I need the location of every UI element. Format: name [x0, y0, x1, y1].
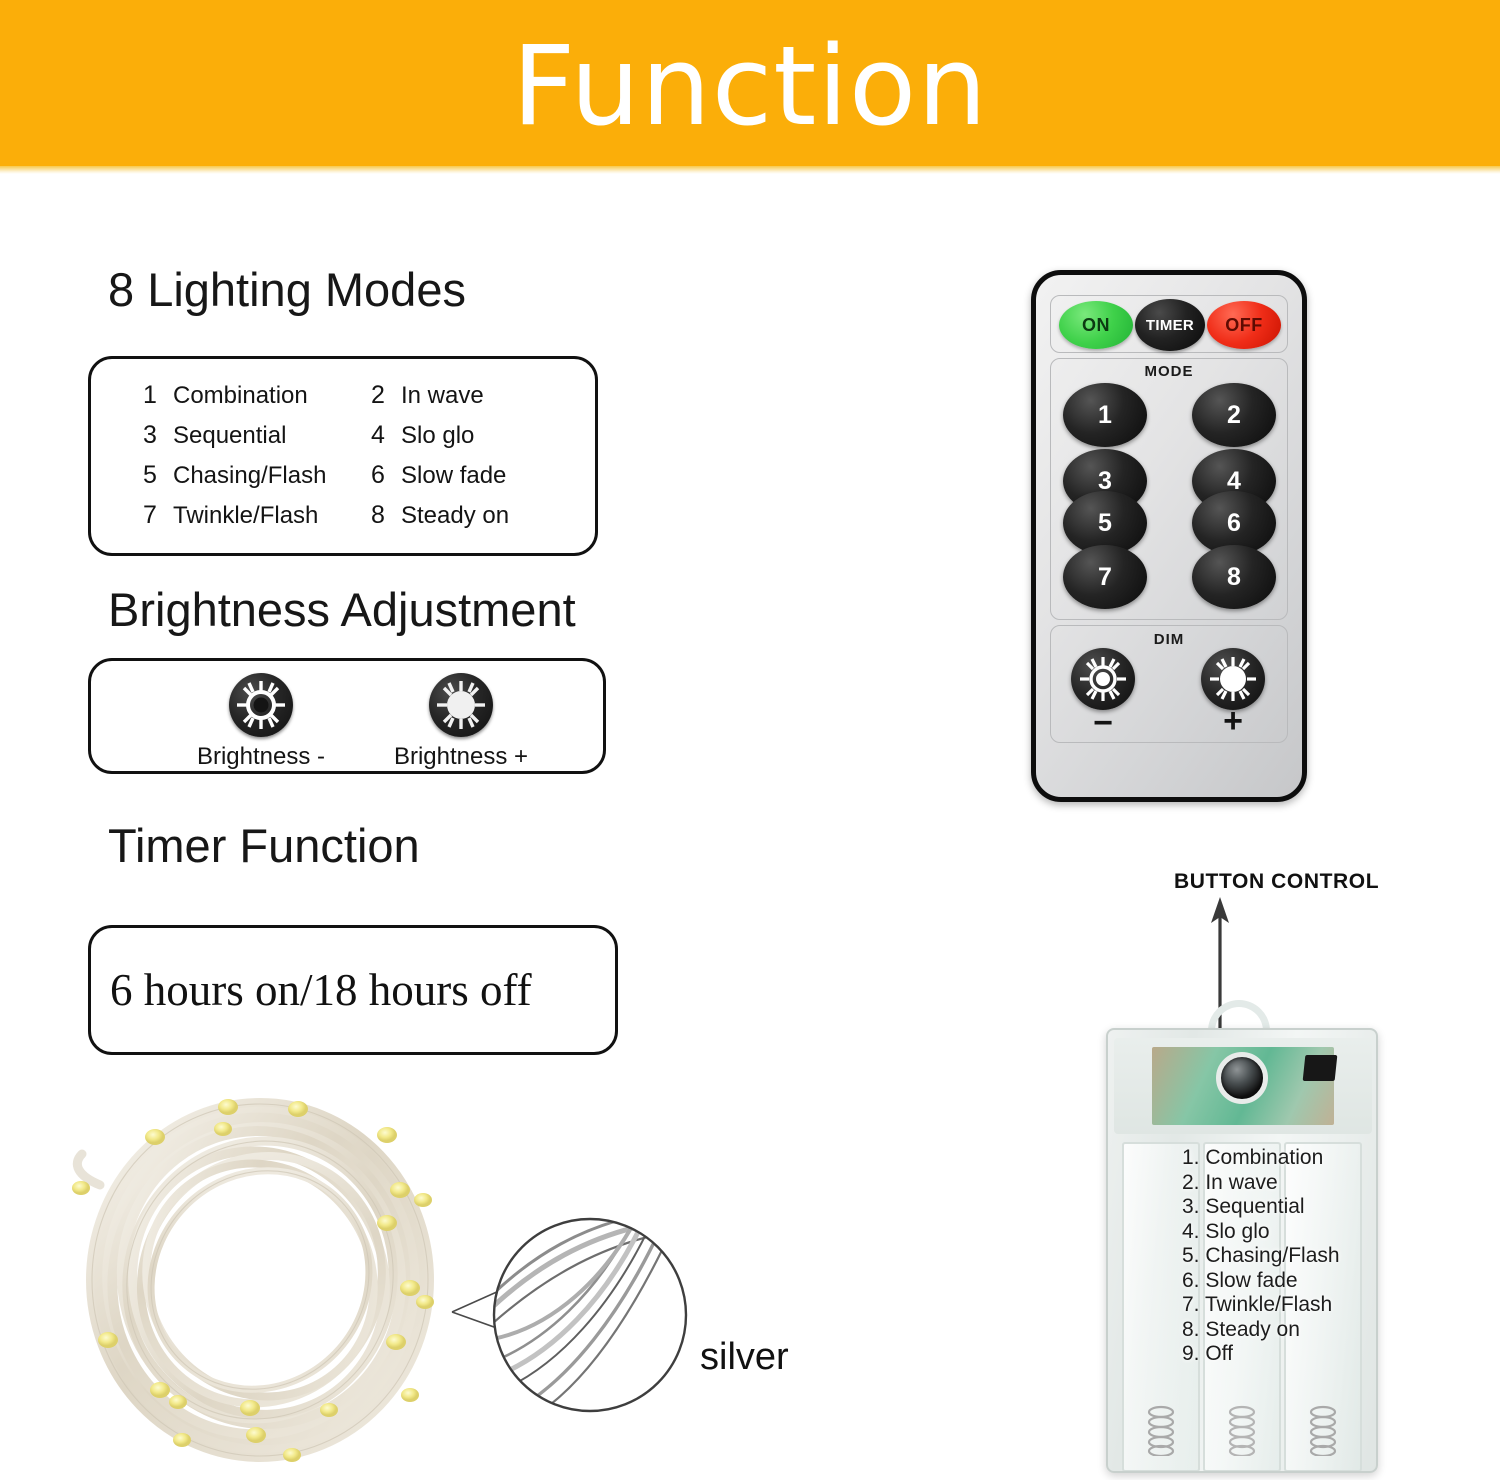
spring-icon [1225, 1404, 1259, 1456]
remote-control[interactable]: ON TIMER OFF MODE 1 2 3 4 5 6 7 8 DIM [1031, 270, 1307, 802]
header-banner-fringe [0, 166, 1500, 174]
remote-mode-button-1[interactable]: 1 [1063, 383, 1147, 447]
mode-label-2: In wave [401, 382, 484, 410]
mode-label-8: Steady on [401, 502, 509, 530]
led-wire-coil [60, 1090, 480, 1470]
mode-label-4: Slo glo [401, 422, 474, 450]
battery-mode-item: 5. Chasing/Flash [1182, 1244, 1340, 1269]
timer-heading: Timer Function [108, 818, 420, 874]
mode-number-1: 1 [143, 381, 157, 409]
mode-number-7: 7 [143, 501, 157, 529]
mode-panel-label: MODE [1051, 363, 1287, 380]
mode-label-1: Combination [173, 382, 308, 410]
remote-mode-button-7[interactable]: 7 [1063, 545, 1147, 609]
button-control-label: BUTTON CONTROL [1174, 870, 1379, 894]
sun-bright-icon [429, 673, 493, 737]
timer-value: 6 hours on/18 hours off [110, 962, 532, 1018]
remote-mode-button-2[interactable]: 2 [1192, 383, 1276, 447]
brightness-minus-label: Brightness - [171, 743, 351, 771]
battery-box[interactable]: 1. Combination 2. In wave 3. Sequential … [1106, 1028, 1378, 1473]
control-button[interactable] [1216, 1052, 1268, 1104]
brightness-minus-item: Brightness - [171, 673, 351, 771]
brightness-box: Brightness - [88, 658, 606, 774]
mode-number-8: 8 [371, 501, 385, 529]
mode-label-6: Slow fade [401, 462, 506, 490]
battery-mode-item: 3. Sequential [1182, 1195, 1340, 1220]
battery-mode-item: 7. Twinkle/Flash [1182, 1293, 1340, 1318]
remote-mode-button-8[interactable]: 8 [1192, 545, 1276, 609]
mode-number-6: 6 [371, 461, 385, 489]
remote-off-button[interactable]: OFF [1207, 301, 1281, 349]
modes-heading: 8 Lighting Modes [108, 262, 466, 318]
silver-label: silver [700, 1335, 789, 1379]
battery-box-top-compartment [1114, 1038, 1372, 1134]
remote-timer-button[interactable]: TIMER [1135, 299, 1205, 351]
page-title: Function [0, 26, 1500, 146]
remote-mode-panel: MODE 1 2 3 4 5 6 7 8 [1050, 358, 1288, 620]
sun-dim-icon [1071, 648, 1135, 710]
mode-label-5: Chasing/Flash [173, 462, 326, 490]
modes-box: 1 Combination 2 In wave 3 Sequential 4 S… [88, 356, 598, 556]
sun-dim-icon [229, 673, 293, 737]
dim-minus-sign: − [1071, 708, 1135, 738]
remote-dim-plus-button[interactable] [1201, 648, 1265, 710]
mode-number-2: 2 [371, 381, 385, 409]
mode-number-4: 4 [371, 421, 385, 449]
mode-number-5: 5 [143, 461, 157, 489]
battery-box-mode-list: 1. Combination 2. In wave 3. Sequential … [1182, 1146, 1340, 1367]
chip-icon [1303, 1055, 1338, 1081]
battery-mode-item: 4. Slo glo [1182, 1220, 1340, 1245]
mode-label-7: Twinkle/Flash [173, 502, 318, 530]
brightness-plus-item: Brightness + [361, 673, 561, 771]
remote-power-panel: ON TIMER OFF [1050, 295, 1288, 353]
brightness-plus-label: Brightness + [361, 743, 561, 771]
remote-on-button[interactable]: ON [1059, 301, 1133, 349]
battery-mode-item: 8. Steady on [1182, 1318, 1340, 1343]
battery-mode-item: 6. Slow fade [1182, 1269, 1340, 1294]
mode-label-3: Sequential [173, 422, 286, 450]
battery-mode-item: 2. In wave [1182, 1171, 1340, 1196]
dim-plus-sign: + [1201, 706, 1265, 736]
battery-mode-item: 1. Combination [1182, 1146, 1340, 1171]
sun-bright-icon [1201, 648, 1265, 710]
battery-mode-item: 9. Off [1182, 1342, 1340, 1367]
spring-icon [1306, 1404, 1340, 1456]
remote-dim-panel: DIM [1050, 625, 1288, 743]
dim-panel-label: DIM [1051, 631, 1287, 648]
spring-icon [1144, 1404, 1178, 1456]
magnifier-icon [490, 1215, 690, 1415]
mode-number-3: 3 [143, 421, 157, 449]
remote-dim-minus-button[interactable] [1071, 648, 1135, 710]
brightness-heading: Brightness Adjustment [108, 582, 576, 638]
